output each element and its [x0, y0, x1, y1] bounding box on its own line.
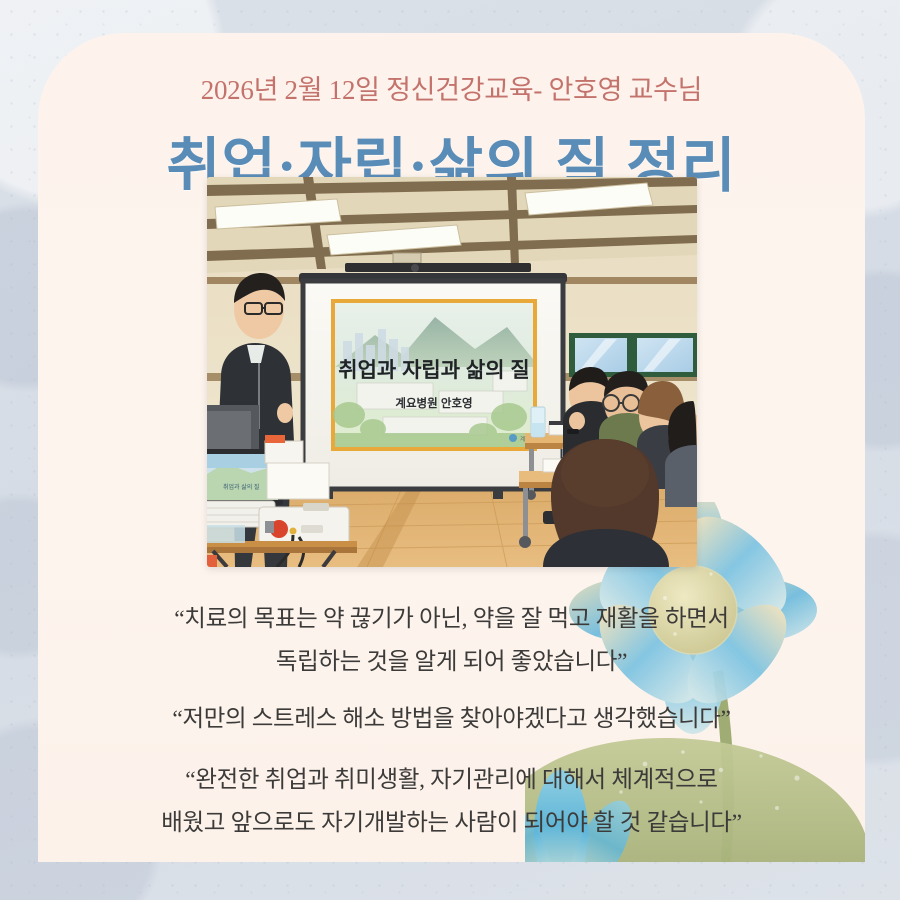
slide-title-text: 취업과 자립과 삶의 질 — [338, 359, 529, 382]
lecture-photo-illustration: 취업과 자립과 삶의 질 계요병원 안호영 계요병원 — [207, 177, 697, 567]
quote-line: 배웠고 앞으로도 자기개발하는 사람이 되어야 할 것 같습니다” — [78, 802, 825, 845]
event-date-and-speaker: 2026년 2월 12일 정신건강교육- 안호영 교수님 — [38, 68, 865, 107]
quote-line: “치료의 목표는 약 끊기가 아닌, 약을 잘 먹고 재활을 하면서 — [78, 598, 825, 641]
svg-text:취업과 삶의 질: 취업과 삶의 질 — [223, 483, 259, 491]
poster-card: 2026년 2월 12일 정신건강교육- 안호영 교수님 취업·자립·삶의 질 … — [0, 0, 900, 900]
content-panel: 2026년 2월 12일 정신건강교육- 안호영 교수님 취업·자립·삶의 질 … — [38, 33, 865, 862]
quote-block-1: “치료의 목표는 약 끊기가 아닌, 약을 잘 먹고 재활을 하면서 독립하는 … — [78, 598, 825, 684]
quote-line: “완전한 취업과 취미생활, 자기관리에 대해서 체계적으로 — [78, 759, 825, 802]
slide-presenter-text: 계요병원 안호영 — [395, 396, 472, 410]
testimonial-quotes: “치료의 목표는 약 끊기가 아닌, 약을 잘 먹고 재활을 하면서 독립하는 … — [78, 598, 825, 859]
quote-block-2: “저만의 스트레스 해소 방법을 찾아야겠다고 생각했습니다” — [78, 698, 825, 741]
quote-block-3: “완전한 취업과 취미생활, 자기관리에 대해서 체계적으로 배웠고 앞으로도 … — [78, 759, 825, 845]
quote-line: 독립하는 것을 알게 되어 좋았습니다” — [78, 641, 825, 684]
lecture-photo: 취업과 자립과 삶의 질 계요병원 안호영 계요병원 — [207, 177, 697, 567]
quote-line: “저만의 스트레스 해소 방법을 찾아야겠다고 생각했습니다” — [78, 698, 825, 741]
